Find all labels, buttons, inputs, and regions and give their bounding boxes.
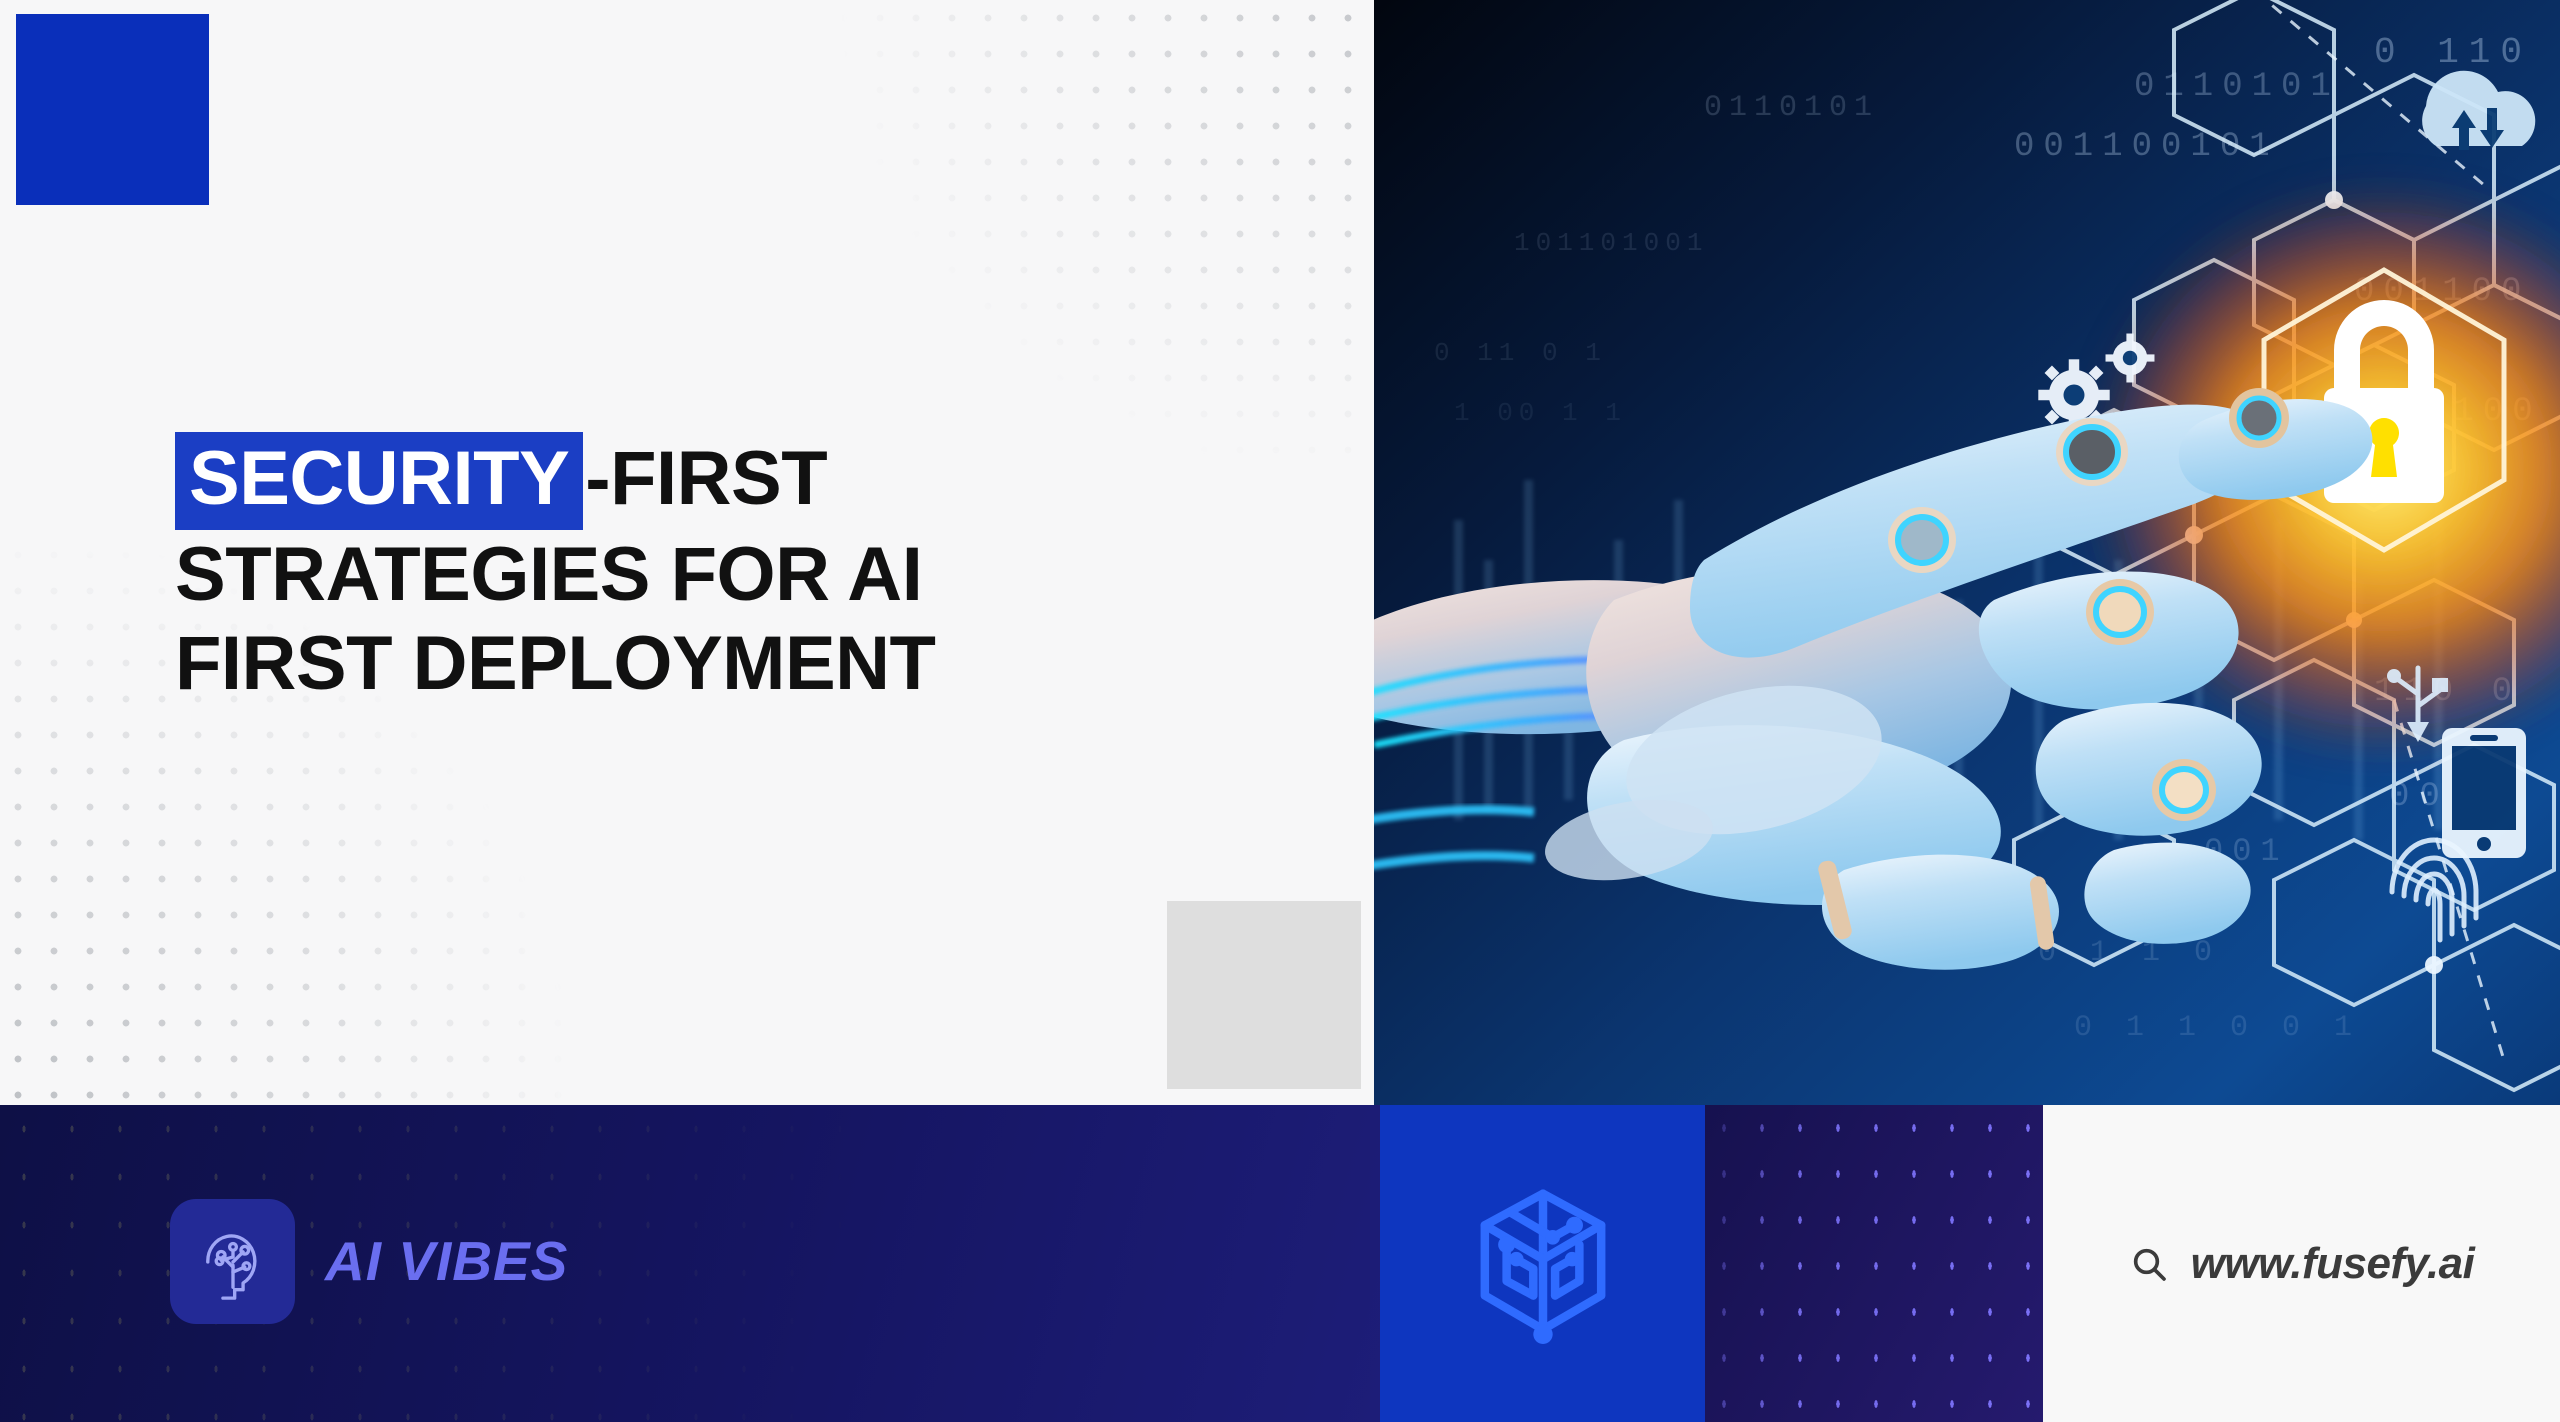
left-content-panel: SECURITY-FIRST STRATEGIES FOR AI FIRST D… (0, 0, 1374, 1105)
ai-brain-head-icon (170, 1199, 295, 1324)
gray-placeholder-square (1167, 901, 1361, 1089)
headline-line-1: SECURITY-FIRST (175, 432, 1255, 530)
top-section: SECURITY-FIRST STRATEGIES FOR AI FIRST D… (0, 0, 2560, 1105)
svg-text:0110101: 0110101 (2134, 68, 2340, 106)
page-title: SECURITY-FIRST STRATEGIES FOR AI FIRST D… (175, 432, 1255, 709)
headline-line-2: STRATEGIES FOR AI (175, 530, 1255, 620)
svg-text:0 1 1 0 0 1: 0 1 1 0 0 1 (2074, 1011, 2360, 1045)
svg-text:101101001: 101101001 (1514, 228, 1708, 258)
hero-image-artwork: 0110101 001100101 0110101 0 110 001100 1… (1374, 0, 2560, 1105)
footer-bar: AI VIBES (0, 1105, 2560, 1422)
svg-text:0110101: 0110101 (1704, 91, 1879, 125)
brand-accent-square (16, 14, 209, 205)
headline-line-3: FIRST DEPLOYMENT (175, 619, 1255, 709)
search-icon (2129, 1244, 2169, 1284)
slide-canvas: SECURITY-FIRST STRATEGIES FOR AI FIRST D… (0, 0, 2560, 1422)
fusefy-cube-icon (1468, 1184, 1618, 1344)
channel-name: AI VIBES (325, 1234, 568, 1289)
smartphone-icon (2442, 728, 2526, 858)
channel-brand: AI VIBES (170, 1199, 568, 1324)
website-url[interactable]: www.fusefy.ai (2191, 1242, 2475, 1286)
footer-website-panel: www.fusefy.ai (2043, 1105, 2560, 1422)
svg-text:0 110: 0 110 (2374, 32, 2532, 73)
svg-text:0 11 0 1: 0 11 0 1 (1434, 338, 1607, 368)
footer-channel-panel: AI VIBES (0, 1105, 1380, 1422)
footer-logo-panel (1380, 1105, 1705, 1422)
hero-image: 0110101 001100101 0110101 0 110 001100 1… (1374, 0, 2560, 1105)
footer-texture-panel (1705, 1105, 2043, 1422)
headline-highlight-word: SECURITY (175, 432, 583, 530)
svg-text:1 00 1 1: 1 00 1 1 (1454, 398, 1627, 428)
headline-line-1-rest: -FIRST (585, 436, 827, 521)
